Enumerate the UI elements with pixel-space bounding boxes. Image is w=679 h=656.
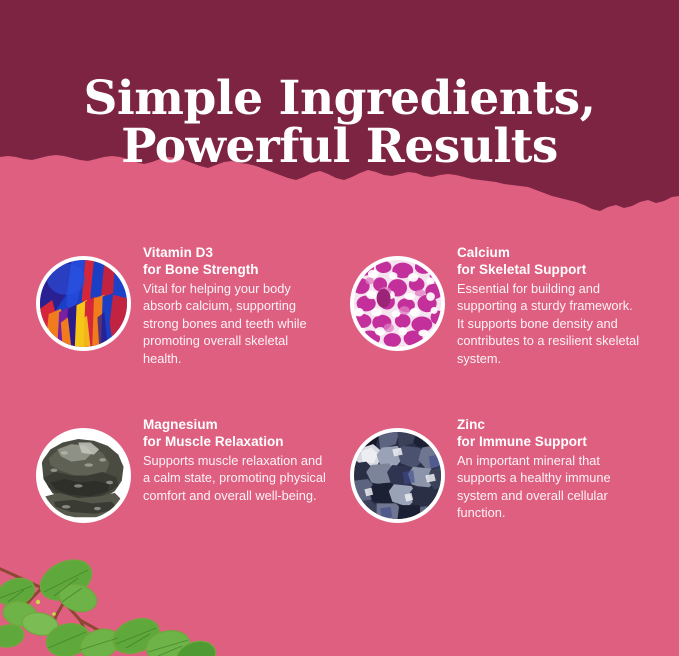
ingredient-image-frame	[350, 256, 445, 351]
ingredient-description: Supports muscle relaxation and a calm st…	[143, 452, 328, 505]
ingredient-title: Zinc for Immune Support	[457, 416, 660, 451]
ingredient-description: An important mineral that supports a hea…	[457, 452, 642, 522]
magnesium-mineral-rock-icon	[40, 432, 127, 519]
ingredient-image-frame	[36, 428, 131, 523]
ingredient-benefit: for Bone Strength	[143, 261, 346, 278]
ingredient-card-vitamin-d3: Vitamin D3 for Bone Strength Vital for h…	[36, 242, 346, 417]
ingredient-benefit: for Immune Support	[457, 433, 660, 450]
ingredient-image-frame	[350, 428, 445, 523]
ingredient-description: Essential for building and supporting a …	[457, 280, 642, 368]
ingredient-benefit: for Muscle Relaxation	[143, 433, 346, 450]
ingredient-description: Vital for helping your body absorb calci…	[143, 280, 328, 368]
ingredients-grid: Vitamin D3 for Bone Strength Vital for h…	[0, 232, 679, 572]
zinc-metallic-crystals-icon	[354, 432, 441, 519]
ingredient-name: Zinc	[457, 417, 485, 432]
green-leaves-sprig-icon	[0, 540, 224, 656]
ingredient-title: Vitamin D3 for Bone Strength	[143, 244, 346, 279]
header-band	[0, 0, 679, 232]
ingredient-text: Zinc for Immune Support An important min…	[457, 414, 660, 522]
ingredient-name: Vitamin D3	[143, 245, 213, 260]
ingredient-image-frame	[36, 256, 131, 351]
ingredients-poster: Simple Ingredients, Powerful Results	[0, 0, 679, 656]
calcium-cellular-micrograph-icon	[354, 260, 441, 347]
ingredient-text: Calcium for Skeletal Support Essential f…	[457, 242, 660, 367]
vitamin-d3-crystal-micrograph-icon	[40, 260, 127, 347]
ingredient-text: Magnesium for Muscle Relaxation Supports…	[143, 414, 346, 504]
ingredient-name: Magnesium	[143, 417, 218, 432]
torn-edge-shape	[0, 0, 679, 232]
ingredient-card-zinc: Zinc for Immune Support An important min…	[350, 414, 660, 589]
ingredient-title: Magnesium for Muscle Relaxation	[143, 416, 346, 451]
ingredient-text: Vitamin D3 for Bone Strength Vital for h…	[143, 242, 346, 367]
ingredient-title: Calcium for Skeletal Support	[457, 244, 660, 279]
ingredient-name: Calcium	[457, 245, 510, 260]
ingredient-benefit: for Skeletal Support	[457, 261, 660, 278]
ingredient-card-calcium: Calcium for Skeletal Support Essential f…	[350, 242, 660, 417]
